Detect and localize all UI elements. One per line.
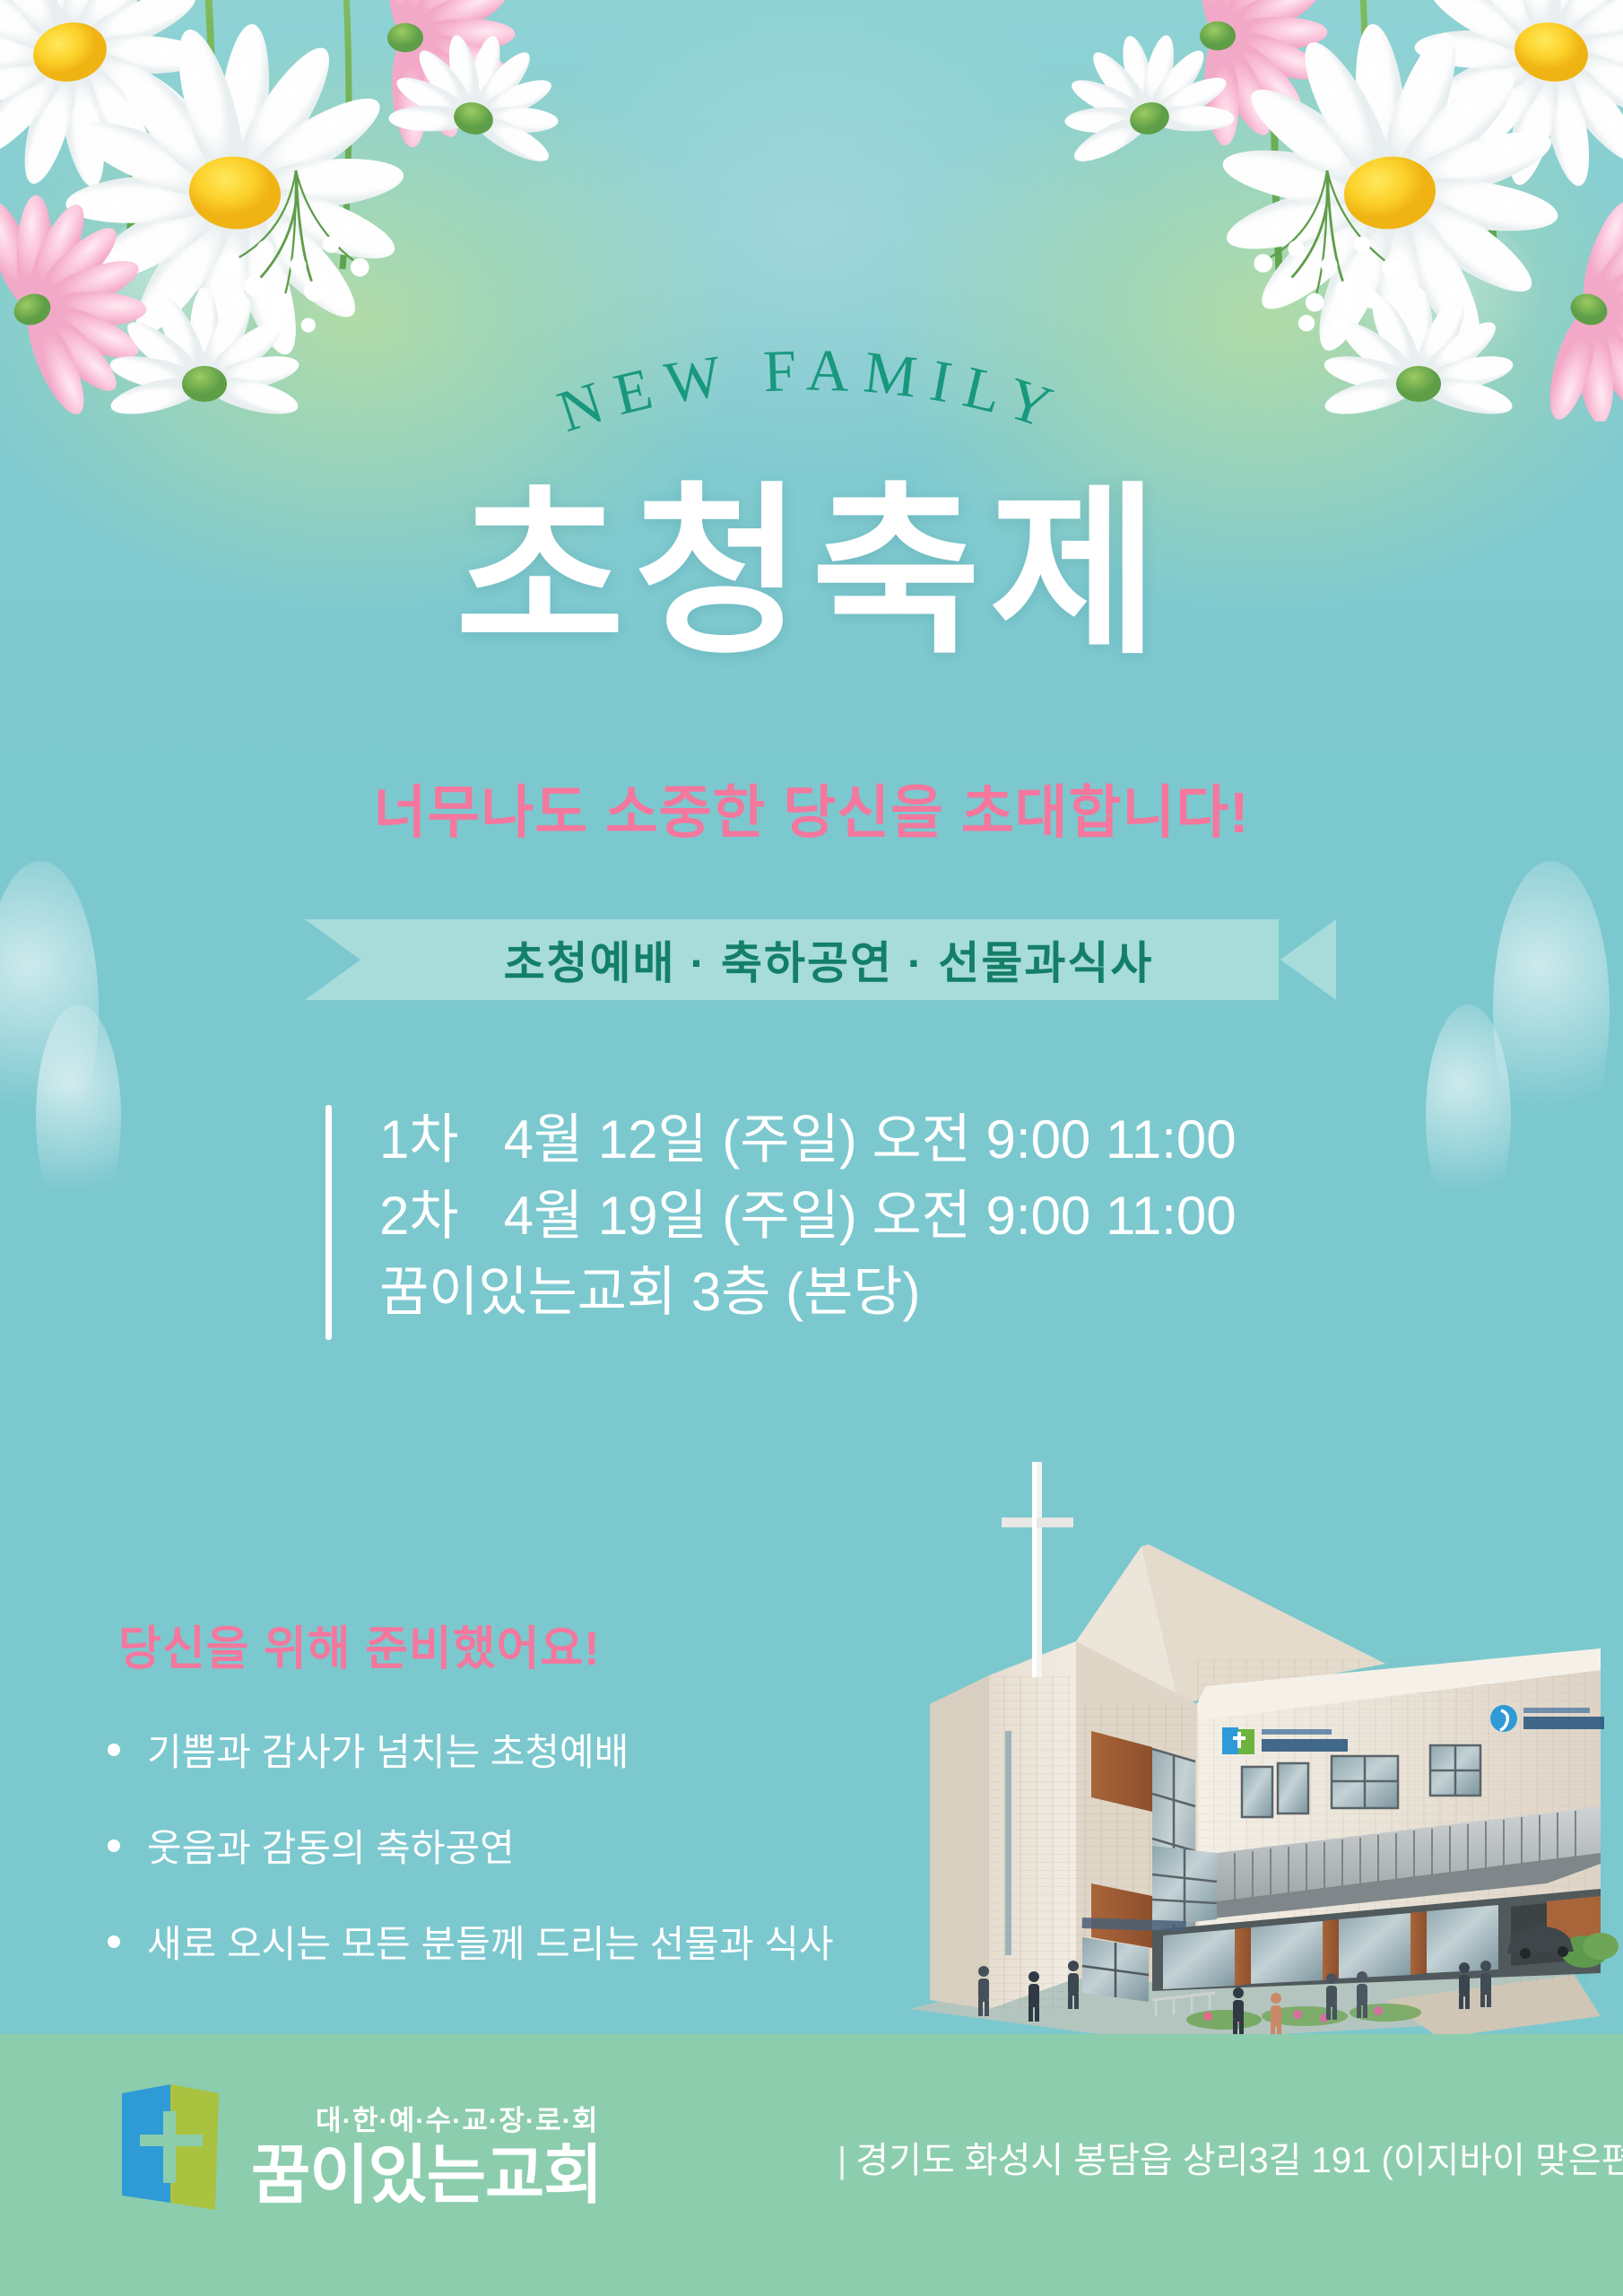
ribbon-text: 초청예배 · 축하공연 · 선물과식사: [488, 927, 1154, 992]
poster-title: 초청축제: [0, 470, 1623, 676]
church-name-label: 꿈이있는교회: [251, 2144, 602, 2208]
contact-phone: |T. 031-227-0658: [758, 2248, 1623, 2296]
pipe-separator: |: [838, 2141, 855, 2180]
list-item-label: 기쁨과 감사가 넘치는 초청예배: [147, 1722, 629, 1777]
prepared-list: 기쁨과 감사가 넘치는 초청예배 웃음과 감동의 축하공연 새로 오시는 모든 …: [108, 1722, 915, 2010]
list-item: 웃음과 감동의 축하공연: [108, 1818, 915, 1873]
eyebrow-text: NEW FAMILY: [551, 337, 1072, 445]
bullet-dot-icon: [108, 1744, 120, 1756]
church-logo: 대·한·예·수·교·장·로·회 꿈이있는교회: [118, 2077, 602, 2212]
contact-address: |경기도 화성시 봉담읍 상리3길 191 (이지바이 맞은편): [758, 2074, 1623, 2248]
open-door-cross-icon: [118, 2077, 224, 2212]
contact-address-text: 경기도 화성시 봉담읍 상리3길 191 (이지바이 맞은편): [855, 2141, 1623, 2180]
list-item: 새로 오시는 모든 분들께 드리는 선물과 식사: [108, 1914, 915, 1969]
schedule-accent-bar: [325, 1105, 332, 1340]
schedule-block: 1차 4월 12일 (주일) 오전 9:00 11:00 2차 4월 19일 (…: [325, 1101, 1402, 1331]
prepared-heading: 당신을 위해 준비했어요!: [118, 1611, 601, 1678]
bullet-dot-icon: [108, 1935, 120, 1948]
footer-bar: 대·한·예·수·교·장·로·회 꿈이있는교회 |경기도 화성시 봉담읍 상리3길…: [0, 2034, 1623, 2296]
program-ribbon-banner: 초청예배 · 축하공연 · 선물과식사: [305, 919, 1336, 1000]
poster-canvas: NEW FAMILY 초청축제 너무나도 소중한 당신을 초대합니다! 초청예배…: [0, 0, 1623, 2296]
poster-subtitle: 너무나도 소중한 당신을 초대합니다!: [0, 767, 1623, 849]
schedule-line: 2차 4월 19일 (주일) 오전 9:00 11:00: [379, 1178, 1402, 1254]
schedule-line: 꿈이있는교회 3층 (본당): [379, 1254, 1402, 1330]
contact-info: |경기도 화성시 봉담읍 상리3길 191 (이지바이 맞은편) |T. 031…: [758, 2074, 1623, 2296]
church-building-image: [883, 1435, 1619, 2045]
schedule-line: 1차 4월 12일 (주일) 오전 9:00 11:00: [379, 1101, 1402, 1178]
bullet-dot-icon: [108, 1839, 120, 1852]
denomination-label: 대·한·예·수·교·장·로·회: [251, 2098, 602, 2138]
list-item-label: 새로 오시는 모든 분들께 드리는 선물과 식사: [147, 1914, 834, 1969]
list-item-label: 웃음과 감동의 축하공연: [147, 1818, 515, 1873]
list-item: 기쁨과 감사가 넘치는 초청예배: [108, 1722, 915, 1777]
